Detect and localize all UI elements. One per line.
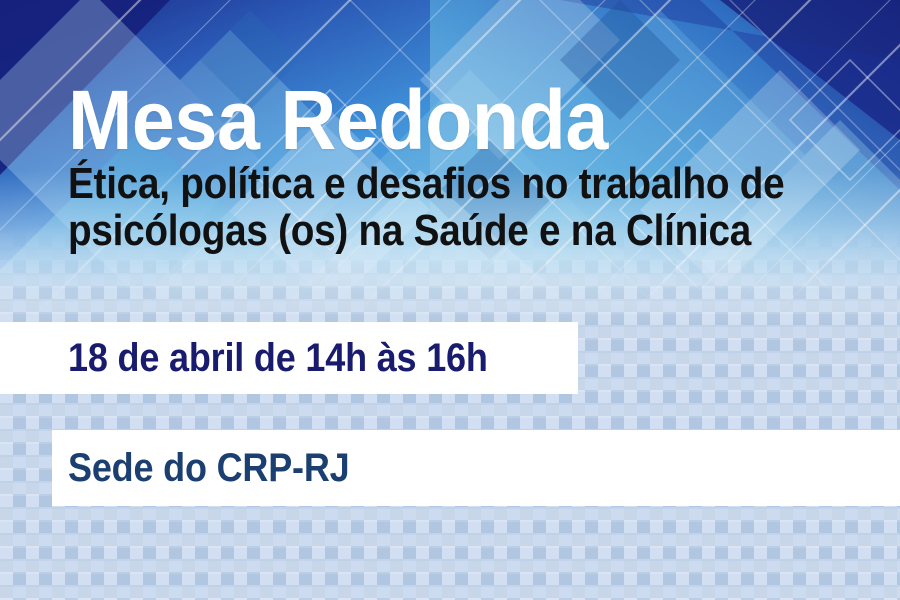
date-banner-text: 18 de abril de 14h às 16h (68, 338, 488, 378)
headline-block: Mesa Redonda Ética, política e desafios … (68, 82, 888, 255)
page-title: Mesa Redonda (68, 82, 822, 159)
subtitle-line-2: psicólogas (os) na Saúde e na Clínica (68, 208, 790, 255)
page-subtitle: Ética, política e desafios no trabalho d… (68, 161, 790, 254)
date-banner: 18 de abril de 14h às 16h (0, 322, 578, 394)
location-banner: Sede do CRP-RJ (52, 430, 900, 506)
subtitle-line-1: Ética, política e desafios no trabalho d… (68, 161, 790, 208)
location-banner-text: Sede do CRP-RJ (68, 448, 350, 488)
event-poster: Mesa Redonda Ética, política e desafios … (0, 0, 900, 600)
